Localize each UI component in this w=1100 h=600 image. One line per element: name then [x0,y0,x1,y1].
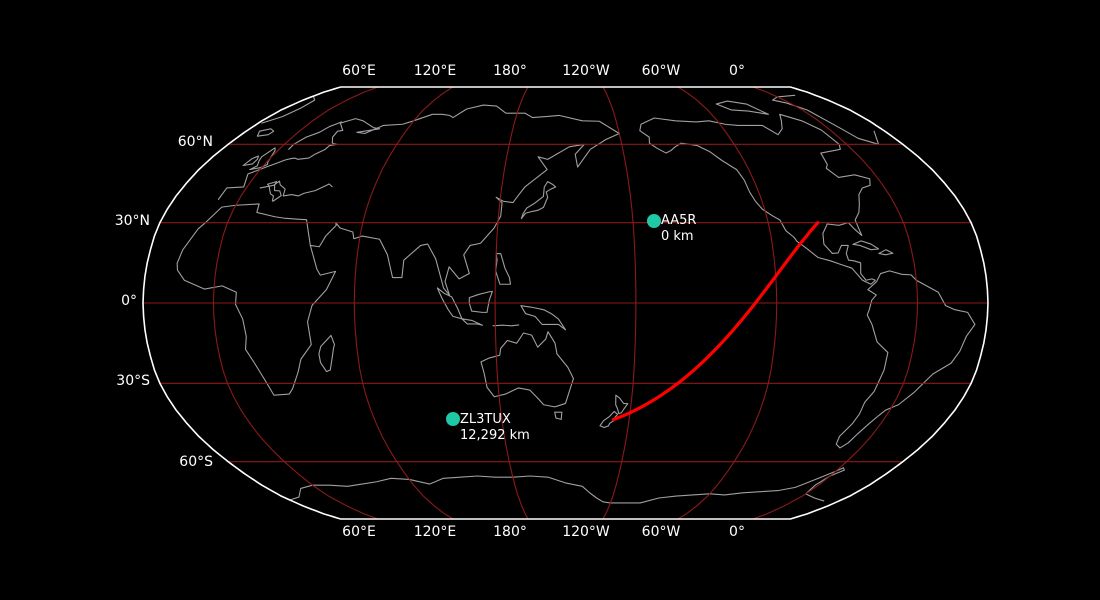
lon-tick-bottom-0: 60°E [342,524,376,540]
lat-tick-3: 30°S [116,373,150,389]
lat-tick-0: 60°N [178,134,213,150]
lon-tick-top-4: 60°W [642,63,681,79]
robinson-map [0,0,1100,600]
lon-tick-bottom-5: 0° [729,524,745,540]
marker-a-distance: 0 km [661,229,696,245]
marker-b-callsign: ZL3TUX [460,412,530,428]
map-background [0,0,1100,600]
marker-b-distance: 12,292 km [460,428,530,444]
lon-tick-bottom-2: 180° [493,524,527,540]
lon-tick-top-2: 180° [493,63,527,79]
station-marker-zl3tux[interactable] [446,412,460,426]
marker-a-callsign: AA5R [661,213,696,229]
lon-tick-bottom-4: 60°W [642,524,681,540]
lat-tick-1: 30°N [115,213,150,229]
lon-tick-top-3: 120°W [562,63,610,79]
figure-canvas: Robinson Projection EM10 to RE66HO (231°… [0,0,1100,600]
lon-tick-bottom-1: 120°E [414,524,457,540]
lat-tick-4: 60°S [179,454,213,470]
lon-tick-top-0: 60°E [342,63,376,79]
marker-label-b: ZL3TUX 12,292 km [460,412,530,444]
lat-tick-2: 0° [121,293,137,309]
station-marker-aa5r[interactable] [647,214,661,228]
lon-tick-bottom-3: 120°W [562,524,610,540]
lon-tick-top-5: 0° [729,63,745,79]
lon-tick-top-1: 120°E [414,63,457,79]
coastline-segment [493,325,519,326]
marker-label-a: AA5R 0 km [661,213,696,245]
